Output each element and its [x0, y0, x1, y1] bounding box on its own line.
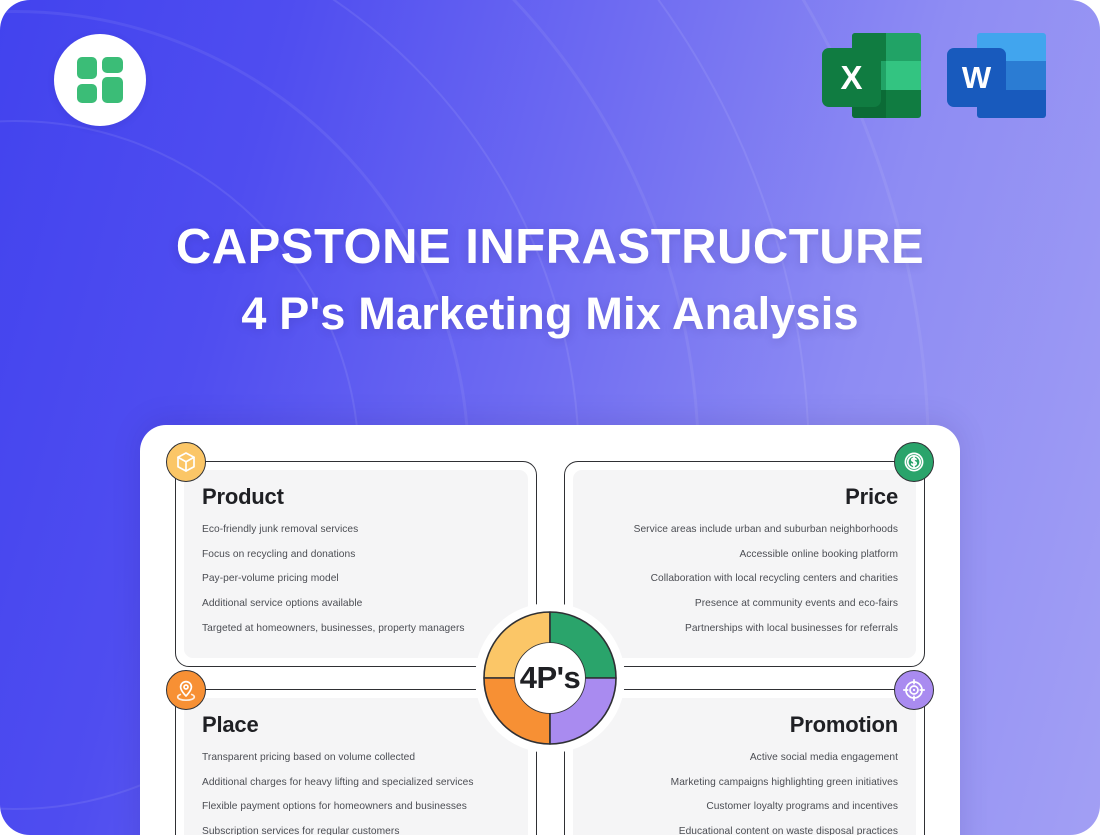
target-crosshair-icon: [894, 670, 934, 710]
analysis-card: Product Eco-friendly junk removal servic…: [140, 425, 960, 835]
quadrant-list: Transparent pricing based on volume coll…: [202, 752, 510, 835]
list-item: Additional service options available: [202, 598, 510, 610]
quadrant-list: Service areas include urban and suburban…: [591, 524, 899, 635]
quadrant-list: Eco-friendly junk removal services Focus…: [202, 524, 510, 635]
page-subtitle: 4 P's Marketing Mix Analysis: [0, 290, 1100, 337]
quadrant-title: Product: [202, 484, 510, 510]
excel-icon[interactable]: X: [822, 26, 921, 125]
list-item: Partnerships with local businesses for r…: [591, 623, 899, 635]
list-item: Presence at community events and eco-fai…: [591, 598, 899, 610]
brand-logo: [54, 34, 146, 126]
list-item: Transparent pricing based on volume coll…: [202, 752, 510, 764]
list-item: Marketing campaigns highlighting green i…: [591, 777, 899, 789]
list-item: Eco-friendly junk removal services: [202, 524, 510, 536]
list-item: Pay-per-volume pricing model: [202, 573, 510, 585]
grid-dashboard-icon: [77, 57, 123, 103]
list-item: Educational content on waste disposal pr…: [591, 826, 899, 835]
excel-icon-letter: X: [822, 48, 881, 107]
list-item: Service areas include urban and suburban…: [591, 524, 899, 536]
list-item: Customer loyalty programs and incentives: [591, 801, 899, 813]
list-item: Additional charges for heavy lifting and…: [202, 777, 510, 789]
list-item: Flexible payment options for homeowners …: [202, 801, 510, 813]
dollar-coin-icon: [894, 442, 934, 482]
list-item: Subscription services for regular custom…: [202, 826, 510, 835]
list-item: Active social media engagement: [591, 752, 899, 764]
word-icon[interactable]: W: [947, 26, 1046, 125]
list-item: Targeted at homeowners, businesses, prop…: [202, 623, 510, 635]
four-ps-donut-chart: 4P's: [475, 603, 625, 753]
package-box-icon: [166, 442, 206, 482]
slide-canvas: X W CAPSTONE INFRASTRUCTURE 4 P's Market…: [0, 0, 1100, 835]
donut-segments: [475, 603, 625, 753]
list-item: Accessible online booking platform: [591, 549, 899, 561]
quadrant-title: Place: [202, 712, 510, 738]
quadrant-title: Price: [591, 484, 899, 510]
list-item: Collaboration with local recycling cente…: [591, 573, 899, 585]
quadrant-title: Promotion: [591, 712, 899, 738]
word-icon-letter: W: [947, 48, 1006, 107]
quadrant-list: Active social media engagement Marketing…: [591, 752, 899, 835]
app-icon-group: X W: [822, 26, 1046, 125]
page-title: CAPSTONE INFRASTRUCTURE: [0, 222, 1100, 273]
location-pin-icon: [166, 670, 206, 710]
list-item: Focus on recycling and donations: [202, 549, 510, 561]
header-block: CAPSTONE INFRASTRUCTURE 4 P's Marketing …: [0, 222, 1100, 338]
